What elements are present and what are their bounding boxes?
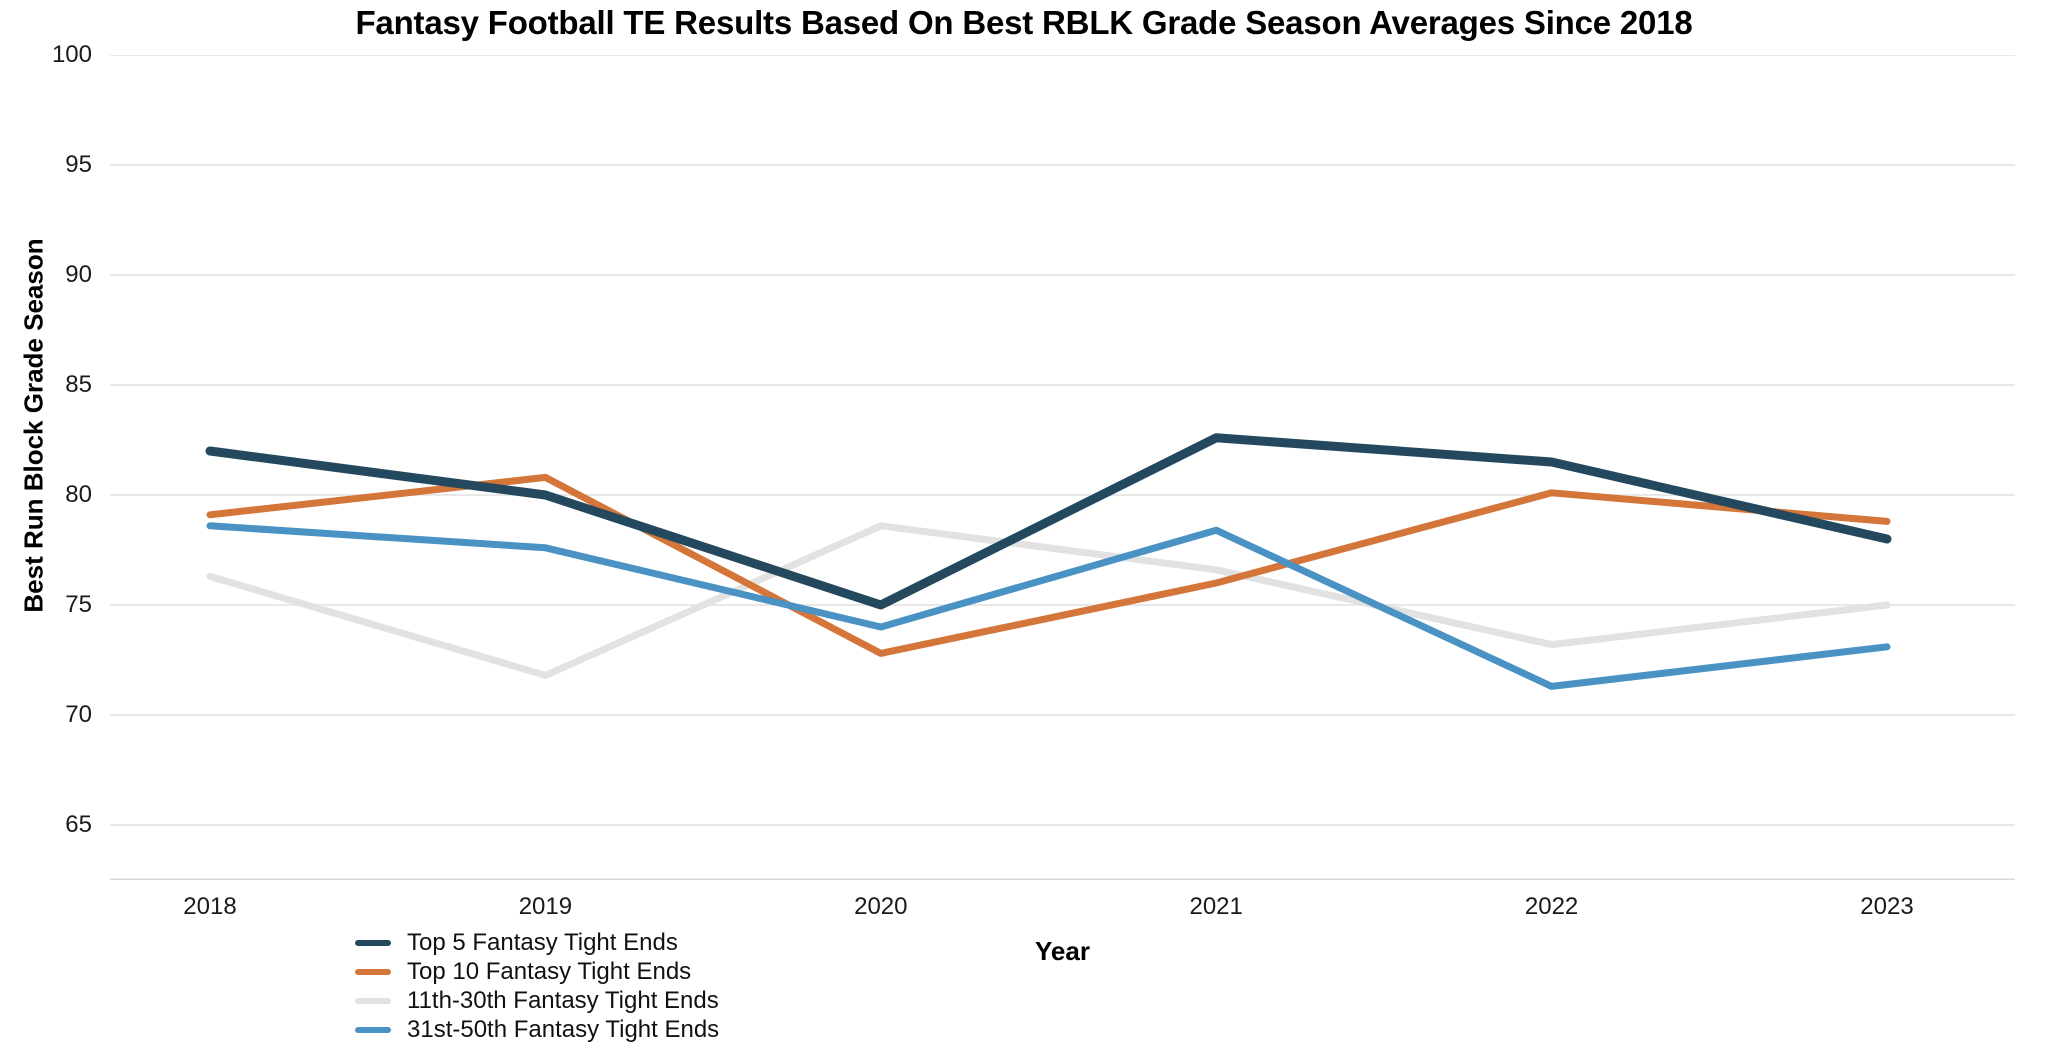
x-tick-label: 2022: [1472, 893, 1632, 921]
plot-area: [110, 55, 2015, 880]
y-tick-label: 80: [12, 481, 92, 509]
y-axis-tick-labels: 10095908580757065: [0, 55, 92, 880]
legend-color-swatch-icon: [355, 998, 391, 1004]
x-tick-label: 2018: [130, 893, 290, 921]
series-line: [210, 526, 1887, 676]
chart-title: Fantasy Football TE Results Based On Bes…: [0, 4, 2048, 42]
legend-label: 31st-50th Fantasy Tight Ends: [407, 1015, 719, 1044]
y-tick-label: 75: [12, 591, 92, 619]
series-line: [210, 477, 1887, 653]
chart-legend: Top 5 Fantasy Tight EndsTop 10 Fantasy T…: [355, 928, 719, 1044]
legend-color-swatch-icon: [355, 969, 391, 975]
chart-container: Fantasy Football TE Results Based On Bes…: [0, 0, 2048, 1035]
x-tick-label: 2023: [1807, 893, 1967, 921]
x-tick-label: 2020: [801, 893, 961, 921]
legend-label: Top 5 Fantasy Tight Ends: [407, 928, 678, 957]
legend-label: 11th-30th Fantasy Tight Ends: [407, 986, 719, 1015]
legend-color-swatch-icon: [355, 1027, 391, 1033]
legend-item[interactable]: Top 10 Fantasy Tight Ends: [355, 957, 719, 986]
y-tick-label: 90: [12, 261, 92, 289]
y-tick-label: 85: [12, 371, 92, 399]
x-axis-tick-labels: 201820192020202120222023: [110, 893, 2015, 927]
legend-item[interactable]: Top 5 Fantasy Tight Ends: [355, 928, 719, 957]
x-tick-label: 2019: [465, 893, 625, 921]
y-tick-label: 100: [12, 41, 92, 69]
y-tick-label: 70: [12, 701, 92, 729]
legend-item[interactable]: 31st-50th Fantasy Tight Ends: [355, 1015, 719, 1044]
series-lines: [110, 55, 2015, 880]
legend-label: Top 10 Fantasy Tight Ends: [407, 957, 691, 986]
x-tick-label: 2021: [1136, 893, 1296, 921]
legend-color-swatch-icon: [355, 940, 391, 946]
y-tick-label: 95: [12, 151, 92, 179]
y-tick-label: 65: [12, 811, 92, 839]
legend-item[interactable]: 11th-30th Fantasy Tight Ends: [355, 986, 719, 1015]
